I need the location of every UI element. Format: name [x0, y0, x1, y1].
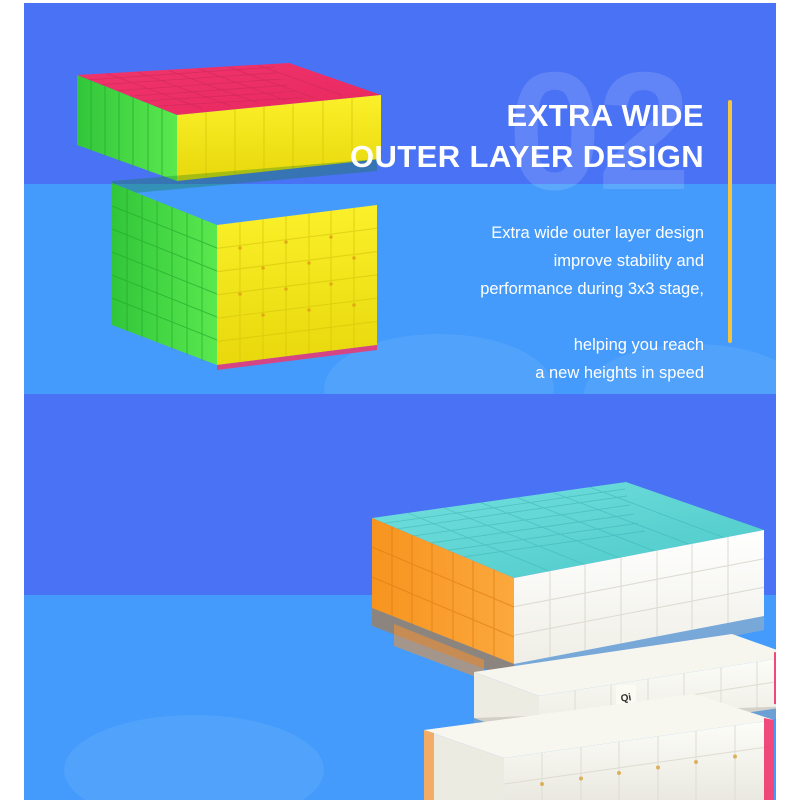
section-02-accent-bar	[728, 100, 732, 343]
infographic-page: 02 EXTRA WIDE OUTER LAYER DESIGN Extra w…	[0, 0, 800, 800]
section-03-upper-band	[24, 394, 776, 595]
feature-section-02: 02 EXTRA WIDE OUTER LAYER DESIGN Extra w…	[24, 3, 776, 394]
section-02-heading: EXTRA WIDE OUTER LAYER DESIGN	[350, 95, 704, 177]
section-02-body-text: Extra wide outer layer design improve st…	[480, 219, 704, 387]
feature-section-03: Qi	[24, 394, 776, 800]
section-03-lower-band	[24, 595, 776, 800]
light-blob	[64, 715, 324, 800]
